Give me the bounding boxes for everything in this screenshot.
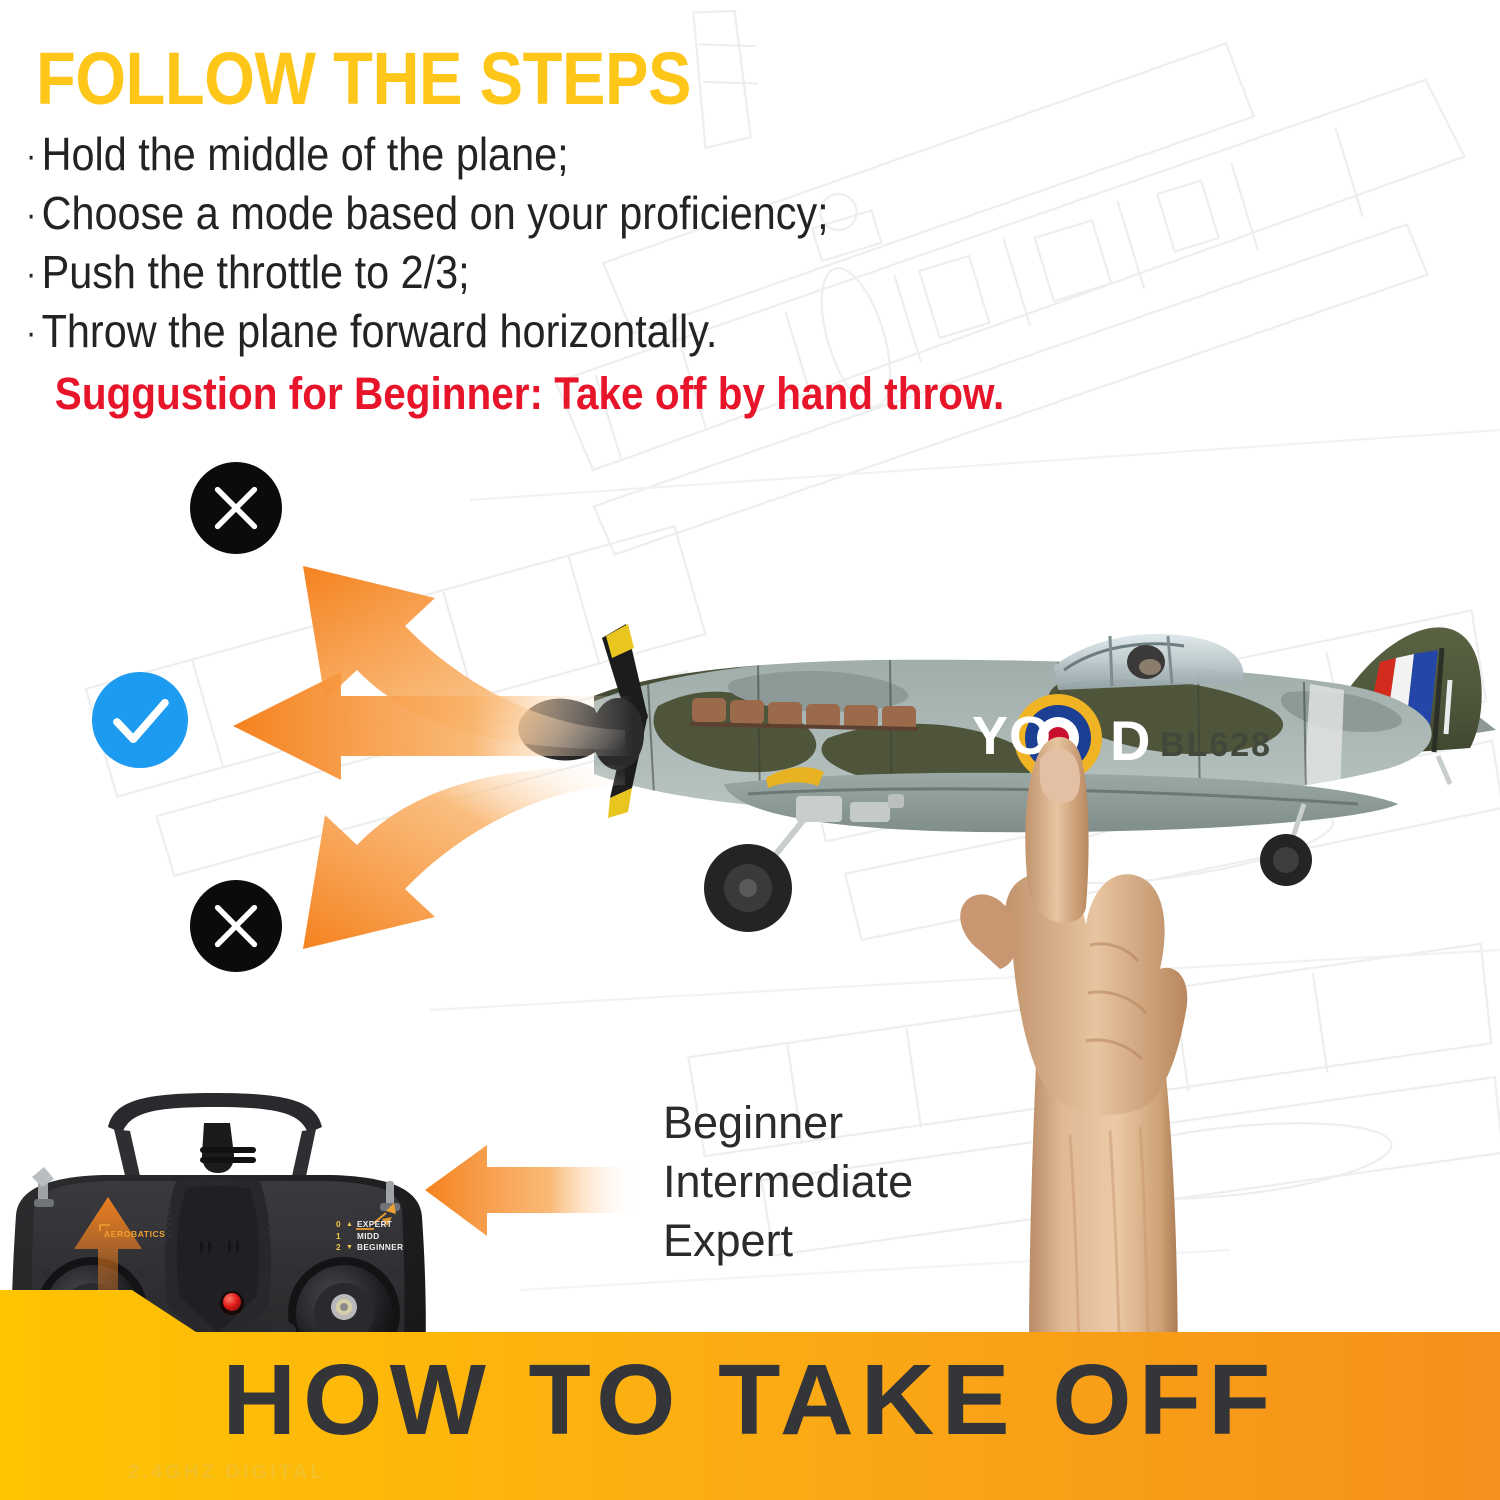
bullet-glyph: · [26,255,36,293]
mode-list: Beginner Intermediate Expert [663,1093,913,1270]
x-badge-bottom [190,880,282,972]
arrow-to-transmitter-icon [425,1143,640,1238]
banner-title: HOW TO TAKE OFF [0,1348,1500,1452]
beginner-suggestion-note: Suggustion for Beginner: Take off by han… [55,365,1004,423]
arrow-down-wrong-icon [285,765,625,955]
switch-triangle-icon: ▼ [346,1242,353,1254]
step-item: ·Push the throttle to 2/3; [26,244,1004,303]
step-item: ·Throw the plane forward horizontally. [26,303,1004,362]
mode-switch-legend: 0 ▲ EXPERT 1 MIDD 2 ▼ BEGINNER [336,1219,403,1254]
step-text: Hold the middle of the plane; [42,128,569,180]
switch-mode-name: EXPERT [357,1219,392,1231]
mode-item-expert: Expert [663,1211,913,1270]
step-text: Throw the plane forward horizontally. [42,305,718,357]
bullet-glyph: · [26,196,36,234]
transmitter-brand-label: 2.4GHZ DIGITAL [128,1462,326,1484]
steps-list: ·Hold the middle of the plane; ·Choose a… [26,126,1004,423]
step-item: ·Choose a mode based on your proficiency… [26,185,1004,244]
switch-triangle-icon: ▲ [346,1219,353,1231]
power-led [223,1293,241,1311]
aerobatics-label: AEROBATICS [104,1229,166,1239]
step-item: ·Hold the middle of the plane; [26,126,1004,185]
step-text: Choose a mode based on your proficiency; [42,187,829,239]
step-text: Push the throttle to 2/3; [42,246,470,298]
bullet-glyph: · [26,137,36,175]
arrow-level-correct-icon [233,672,633,780]
switch-position-number: 2 [336,1242,342,1254]
check-badge [92,672,188,768]
x-badge-top [190,462,282,554]
mode-switch-row: 0 ▲ EXPERT [336,1219,403,1231]
bullet-glyph: · [26,314,36,352]
switch-position-number: 1 [336,1231,342,1243]
switch-mode-name: MIDD [357,1231,380,1243]
switch-mode-name: BEGINNER [357,1242,403,1254]
mode-item-beginner: Beginner [663,1093,913,1152]
switch-position-number: 0 [336,1219,342,1231]
page-title: FOLLOW THE STEPS [36,42,691,116]
infographic-stage: FOLLOW THE STEPS ·Hold the middle of the… [0,0,1500,1500]
mode-switch-row: 2 ▼ BEGINNER [336,1242,403,1254]
mode-item-intermediate: Intermediate [663,1152,913,1211]
mode-switch-row: 1 MIDD [336,1231,403,1243]
